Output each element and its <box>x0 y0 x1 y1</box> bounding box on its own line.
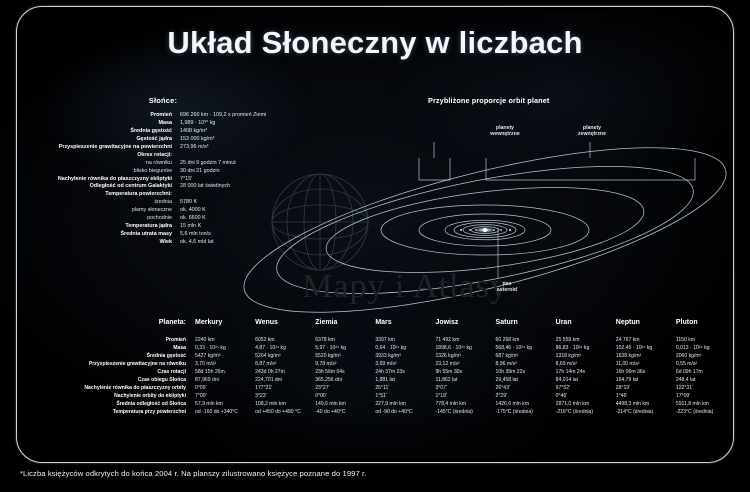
planet-value-cell: 365,256 dni <box>315 376 375 384</box>
planet-value-cell: 2240 km <box>195 336 255 344</box>
sun-fact-label: Średnia utrata masy <box>24 231 180 239</box>
planet-property-label: Średnia gęstość <box>24 352 195 360</box>
sun-fact-label: Promień <box>24 112 180 120</box>
planet-table-row: Średnia gęstość5427 kg/m³5204 kg/m³5520 … <box>24 352 736 360</box>
planet-value-cell: 1150 km <box>676 336 736 344</box>
planet-value-cell: 0°05' <box>195 384 255 392</box>
sun-facts-table: Promień696 260 km · 109,2 x promień Ziem… <box>24 112 310 246</box>
planet-value-cell: od -160 do +340°C <box>195 408 255 416</box>
sun-fact-value <box>180 152 310 160</box>
planet-property-label: Nachylenie orbity do ekliptyki <box>24 392 195 400</box>
planet-column-header-saturn: Saturn <box>496 318 556 336</box>
planet-value-cell: 1638 kg/m³ <box>616 352 676 360</box>
planet-value-cell: 84,014 lat <box>556 376 616 384</box>
sun-fact-value: 25 dni 9 godzin 7 minut <box>180 159 310 167</box>
sun-fact-label: Temperatura powierzchni: <box>24 191 180 199</box>
planet-value-cell: od -90 do +40°C <box>375 408 435 416</box>
planet-value-cell: 0,55 m/s² <box>676 360 736 368</box>
planet-value-cell: 97°52' <box>556 384 616 392</box>
sun-fact-row: Średnia utrata masy5,6 mln ton/s <box>24 231 310 239</box>
planet-value-cell: 4,87 · 10²⁴ kg <box>255 344 315 352</box>
asteroid-belt-label-line2: asteroid <box>488 287 526 293</box>
planet-value-cell: 5427 kg/m³ <box>195 352 255 360</box>
planet-value-cell: 29,458 lat <box>496 376 556 384</box>
sun-fact-value: ok. 4,6 mld lat <box>180 239 310 247</box>
sun-facts-body: Promień696 260 km · 109,2 x promień Ziem… <box>24 112 310 246</box>
planet-property-label: Przyspieszenie grawitacyjne na równiku <box>24 360 195 368</box>
sun-fact-label: pochodnie <box>24 215 180 223</box>
sun-fact-row: pochodnieok. 6600 K <box>24 215 310 223</box>
planet-table-row: Przyspieszenie grawitacyjne na równiku3,… <box>24 360 736 368</box>
planet-property-label: Promień <box>24 336 195 344</box>
planet-value-cell: 0°00' <box>315 392 375 400</box>
page-title: Układ Słoneczny w liczbach <box>0 25 750 61</box>
planet-value-cell: 778,4 mln km <box>435 400 495 408</box>
planet-property-label: Temperatura przy powierzchni <box>24 408 195 416</box>
sun-fact-row: na równiku25 dni 9 godzin 7 minut <box>24 159 310 167</box>
planet-value-cell: 1°18' <box>435 392 495 400</box>
planet-value-cell: 71 492 km <box>435 336 495 344</box>
sun-fact-row: blisko biegunów30 dni 21 godzin <box>24 167 310 175</box>
sun-fact-value: 1408 kg/m³ <box>180 128 310 136</box>
planet-column-header-merkury: Merkury <box>195 318 255 336</box>
planet-value-cell: 57,9 mln km <box>195 400 255 408</box>
sun-fact-value: 30 dni 21 godzin <box>180 167 310 175</box>
planet-column-header-mars: Mars <box>375 318 435 336</box>
planet-value-cell: 24h 37m 23s <box>375 368 435 376</box>
planet-value-cell: 1898,6 · 10²⁴ kg <box>435 344 495 352</box>
planet-table-corner-header: Planeta: <box>24 318 195 336</box>
planet-value-cell: 1318 kg/m³ <box>556 352 616 360</box>
sun-fact-row: Okres rotacji: <box>24 152 310 160</box>
outer-planets-label-line2: zewnętrzne <box>566 131 618 137</box>
planet-value-cell: 3,69 m/s² <box>375 360 435 368</box>
sun-fact-value: 696 260 km · 109,2 x promień Ziemi <box>180 112 310 120</box>
planet-column-header-uran: Uran <box>556 318 616 336</box>
planet-value-cell: 16h 06m 36s <box>616 368 676 376</box>
planet-value-cell: 2060 kg/m³ <box>676 352 736 360</box>
planet-value-cell: 243d 0h 27m <box>255 368 315 376</box>
sun-fact-row: Średnia gęstość1408 kg/m³ <box>24 128 310 136</box>
planet-value-cell: 1326 kg/m³ <box>435 352 495 360</box>
planet-column-header-ziemia: Ziemia <box>315 318 375 336</box>
sun-fact-row: Temperatura jądra15 mln K <box>24 223 310 231</box>
planet-value-cell: 23°27' <box>315 384 375 392</box>
planet-value-cell: 6052 km <box>255 336 315 344</box>
planet-value-cell: 7°00' <box>195 392 255 400</box>
sun-fact-label: Nachylenie równika do płaszczyzny eklipt… <box>24 175 180 183</box>
planet-table-row: Czas rotacji58d 15h 26m.243d 0h 27m23h 5… <box>24 368 736 376</box>
planet-column-header-wenus: Wenus <box>255 318 315 336</box>
planet-property-label: Czas rotacji <box>24 368 195 376</box>
sun-fact-value <box>180 191 310 199</box>
planet-value-cell: 3°07' <box>435 384 495 392</box>
sun-fact-label: blisko biegunów <box>24 167 180 175</box>
planet-table-row: Nachylenie orbity do ekliptyki7°00'3°23'… <box>24 392 736 400</box>
planet-value-cell: -214°C (średnia) <box>616 408 676 416</box>
sun-fact-row: Masa1,989 · 10³⁰ kg <box>24 120 310 128</box>
planet-value-cell: 28°19' <box>616 384 676 392</box>
sun-fact-label: na równiku <box>24 159 180 167</box>
planet-table-row: Masa0,33 · 10²⁴ kg4,87 · 10²⁴ kg5,97 · 1… <box>24 344 736 352</box>
sun-fact-label: Odległość od centrum Galaktyki <box>24 183 180 191</box>
sun-fact-row: średnia5780 K <box>24 199 310 207</box>
planet-value-cell: 87,969 dni <box>195 376 255 384</box>
sun-fact-value: 5,6 mln ton/s <box>180 231 310 239</box>
planet-value-cell: 8,87 m/s² <box>255 360 315 368</box>
sun-fact-value: 153 000 kg/m³ <box>180 136 310 144</box>
sun-fact-value: 15 mln K <box>180 223 310 231</box>
planet-value-cell: 3933 kg/m³ <box>375 352 435 360</box>
planet-value-cell: 11,862 lat <box>435 376 495 384</box>
outer-planets-label: planety zewnętrzne <box>566 125 618 138</box>
sun-fact-row: Nachylenie równika do płaszczyzny eklipt… <box>24 175 310 183</box>
sun-fact-value: 273,96 m/s² <box>180 144 310 152</box>
asteroid-belt-label: pas asteroid <box>488 281 526 294</box>
planet-value-cell: 25°11' <box>375 384 435 392</box>
planet-value-cell: 60 268 km <box>496 336 556 344</box>
planet-value-cell: 3397 km <box>375 336 435 344</box>
sun-fact-value: 5780 K <box>180 199 310 207</box>
sun-fact-row: Gęstość jądra153 000 kg/m³ <box>24 136 310 144</box>
planet-value-cell: 0,64 · 10²⁴ kg <box>375 344 435 352</box>
planet-value-cell: 3,70 m/s² <box>195 360 255 368</box>
planet-property-label: Nachylenie równika do płaszczyzny orbity <box>24 384 195 392</box>
planet-table-row: Nachylenie równika do płaszczyzny orbity… <box>24 384 736 392</box>
planet-value-cell: 11,00 m/s² <box>616 360 676 368</box>
planet-value-cell: 6d 09h 17m <box>676 368 736 376</box>
planet-comparison-table: Planeta:MerkuryWenusZiemiaMarsJowiszSatu… <box>24 318 736 416</box>
sun-fact-label: średnia <box>24 199 180 207</box>
planet-value-cell: 5,97 · 10²⁴ kg <box>315 344 375 352</box>
inner-planets-label: planety wewnętrzne <box>480 125 530 138</box>
planet-value-cell: 8,96 m/s² <box>496 360 556 368</box>
planet-value-cell: 1°46' <box>616 392 676 400</box>
planet-value-cell: -216°C (średnia) <box>556 408 616 416</box>
planet-value-cell: 1426,6 mln km <box>496 400 556 408</box>
planet-table-row: Średnia odległość od Słońca57,9 mln km10… <box>24 400 736 408</box>
sun-fact-value: ok. 4000 K <box>180 207 310 215</box>
planet-table-row: Promień2240 km6052 km6378 km3397 km71 49… <box>24 336 736 344</box>
planet-value-cell: 9,78 m/s² <box>315 360 375 368</box>
planet-column-header-pluton: Pluton <box>676 318 736 336</box>
planet-value-cell: od +450 do +480 °C <box>255 408 315 416</box>
sun-fact-label: Wiek <box>24 239 180 247</box>
sun-fact-row: plamy słoneczneok. 4000 K <box>24 207 310 215</box>
planet-value-cell: 108,2 mln km <box>255 400 315 408</box>
sun-fact-value: 1,989 · 10³⁰ kg <box>180 120 310 128</box>
planet-value-cell: 164,79 lat <box>616 376 676 384</box>
planet-value-cell: 6378 km <box>315 336 375 344</box>
planet-value-cell: 1,881 lat <box>375 376 435 384</box>
sun-fact-label: Masa <box>24 120 180 128</box>
planet-value-cell: 4498,3 mln km <box>616 400 676 408</box>
planet-table-head: Planeta:MerkuryWenusZiemiaMarsJowiszSatu… <box>24 318 736 336</box>
planet-value-cell: 2871,0 mln km <box>556 400 616 408</box>
planet-value-cell: 687 kg/m³ <box>496 352 556 360</box>
planet-value-cell: -40 do +40°C <box>315 408 375 416</box>
planet-property-label: Średnia odległość od Słońca <box>24 400 195 408</box>
inner-planets-label-line2: wewnętrzne <box>480 131 530 137</box>
planet-column-header-jowisz: Jowisz <box>435 318 495 336</box>
planet-value-cell: 248,4 lat <box>676 376 736 384</box>
planet-table-row: Czas obiegu Słońca87,969 dni224,701 dni3… <box>24 376 736 384</box>
planet-value-cell: 224,701 dni <box>255 376 315 384</box>
planet-table-row: Temperatura przy powierzchniod -160 do +… <box>24 408 736 416</box>
planet-value-cell: 5520 kg/m³ <box>315 352 375 360</box>
sun-fact-row: Odległość od centrum Galaktyki28 000 lat… <box>24 183 310 191</box>
planet-value-cell: 9h 55m 30s <box>435 368 495 376</box>
sun-fact-label: Okres rotacji: <box>24 152 180 160</box>
planet-value-cell: -145°C (średnia) <box>435 408 495 416</box>
planet-value-cell: 0°46' <box>556 392 616 400</box>
planet-value-cell: 177°21' <box>255 384 315 392</box>
planet-column-header-neptun: Neptun <box>616 318 676 336</box>
planet-value-cell: 58d 15h 26m. <box>195 368 255 376</box>
planet-value-cell: 0,013 · 10²⁴ kg <box>676 344 736 352</box>
planet-value-cell: -223°C (średnia) <box>676 408 736 416</box>
planet-value-cell: 23h 56m 04s <box>315 368 375 376</box>
planet-value-cell: 17°09' <box>676 392 736 400</box>
planet-value-cell: 10h 39m 22s <box>496 368 556 376</box>
poster-canvas: Mapy i Atlasy Układ Słoneczny w liczbach… <box>0 0 750 492</box>
sun-fact-row: Wiekok. 4,6 mld lat <box>24 239 310 247</box>
sun-fact-value: ok. 6600 K <box>180 215 310 223</box>
sun-fact-label: Temperatura jądra <box>24 223 180 231</box>
planet-value-cell: 227,9 mln km <box>375 400 435 408</box>
sun-fact-label: Gęstość jądra <box>24 136 180 144</box>
sun-fact-label: Średnia gęstość <box>24 128 180 136</box>
planet-table-body: Promień2240 km6052 km6378 km3397 km71 49… <box>24 336 736 416</box>
diagram-title: Przybliżone proporcje orbit planet <box>428 96 549 105</box>
planet-value-cell: 26°43' <box>496 384 556 392</box>
sun-fact-label: Przyspieszenie grawitacyjne na powierzch… <box>24 144 180 152</box>
planet-value-cell: 149,6 mln km <box>315 400 375 408</box>
sun-fact-row: Temperatura powierzchni: <box>24 191 310 199</box>
planet-property-label: Czas obiegu Słońca <box>24 376 195 384</box>
planet-value-cell: 102,45 · 10²⁴ kg <box>616 344 676 352</box>
planet-value-cell: 2°29' <box>496 392 556 400</box>
planet-value-cell: 24 767 km <box>616 336 676 344</box>
planet-value-cell: -175°C (średnia) <box>496 408 556 416</box>
planet-value-cell: 1°51' <box>375 392 435 400</box>
planet-value-cell: 17h 14m 24s <box>556 368 616 376</box>
planet-value-cell: 5911,8 mln km <box>676 400 736 408</box>
planet-property-label: Masa <box>24 344 195 352</box>
planet-value-cell: 23,12 m/s² <box>435 360 495 368</box>
sun-section-heading: Słońce: <box>103 96 223 105</box>
planet-value-cell: 568,46 · 10²⁴ kg <box>496 344 556 352</box>
planet-value-cell: 122°31' <box>676 384 736 392</box>
planet-value-cell: 3°23' <box>255 392 315 400</box>
sun-fact-label: plamy słoneczne <box>24 207 180 215</box>
planet-value-cell: 25 559 km <box>556 336 616 344</box>
sun-fact-value: 28 000 lat świetlnych <box>180 183 310 191</box>
sun-fact-row: Promień696 260 km · 109,2 x promień Ziem… <box>24 112 310 120</box>
sun-fact-value: 7°15' <box>180 175 310 183</box>
planet-value-cell: 0,33 · 10²⁴ kg <box>195 344 255 352</box>
sun-fact-row: Przyspieszenie grawitacyjne na powierzch… <box>24 144 310 152</box>
footnote: *Liczba księżyców odkrytych do końca 200… <box>20 469 366 478</box>
planet-value-cell: 5204 kg/m³ <box>255 352 315 360</box>
planet-value-cell: 8,69 m/s² <box>556 360 616 368</box>
planet-value-cell: 86,83 · 10²⁴ kg <box>556 344 616 352</box>
planet-table-header-row: Planeta:MerkuryWenusZiemiaMarsJowiszSatu… <box>24 318 736 336</box>
